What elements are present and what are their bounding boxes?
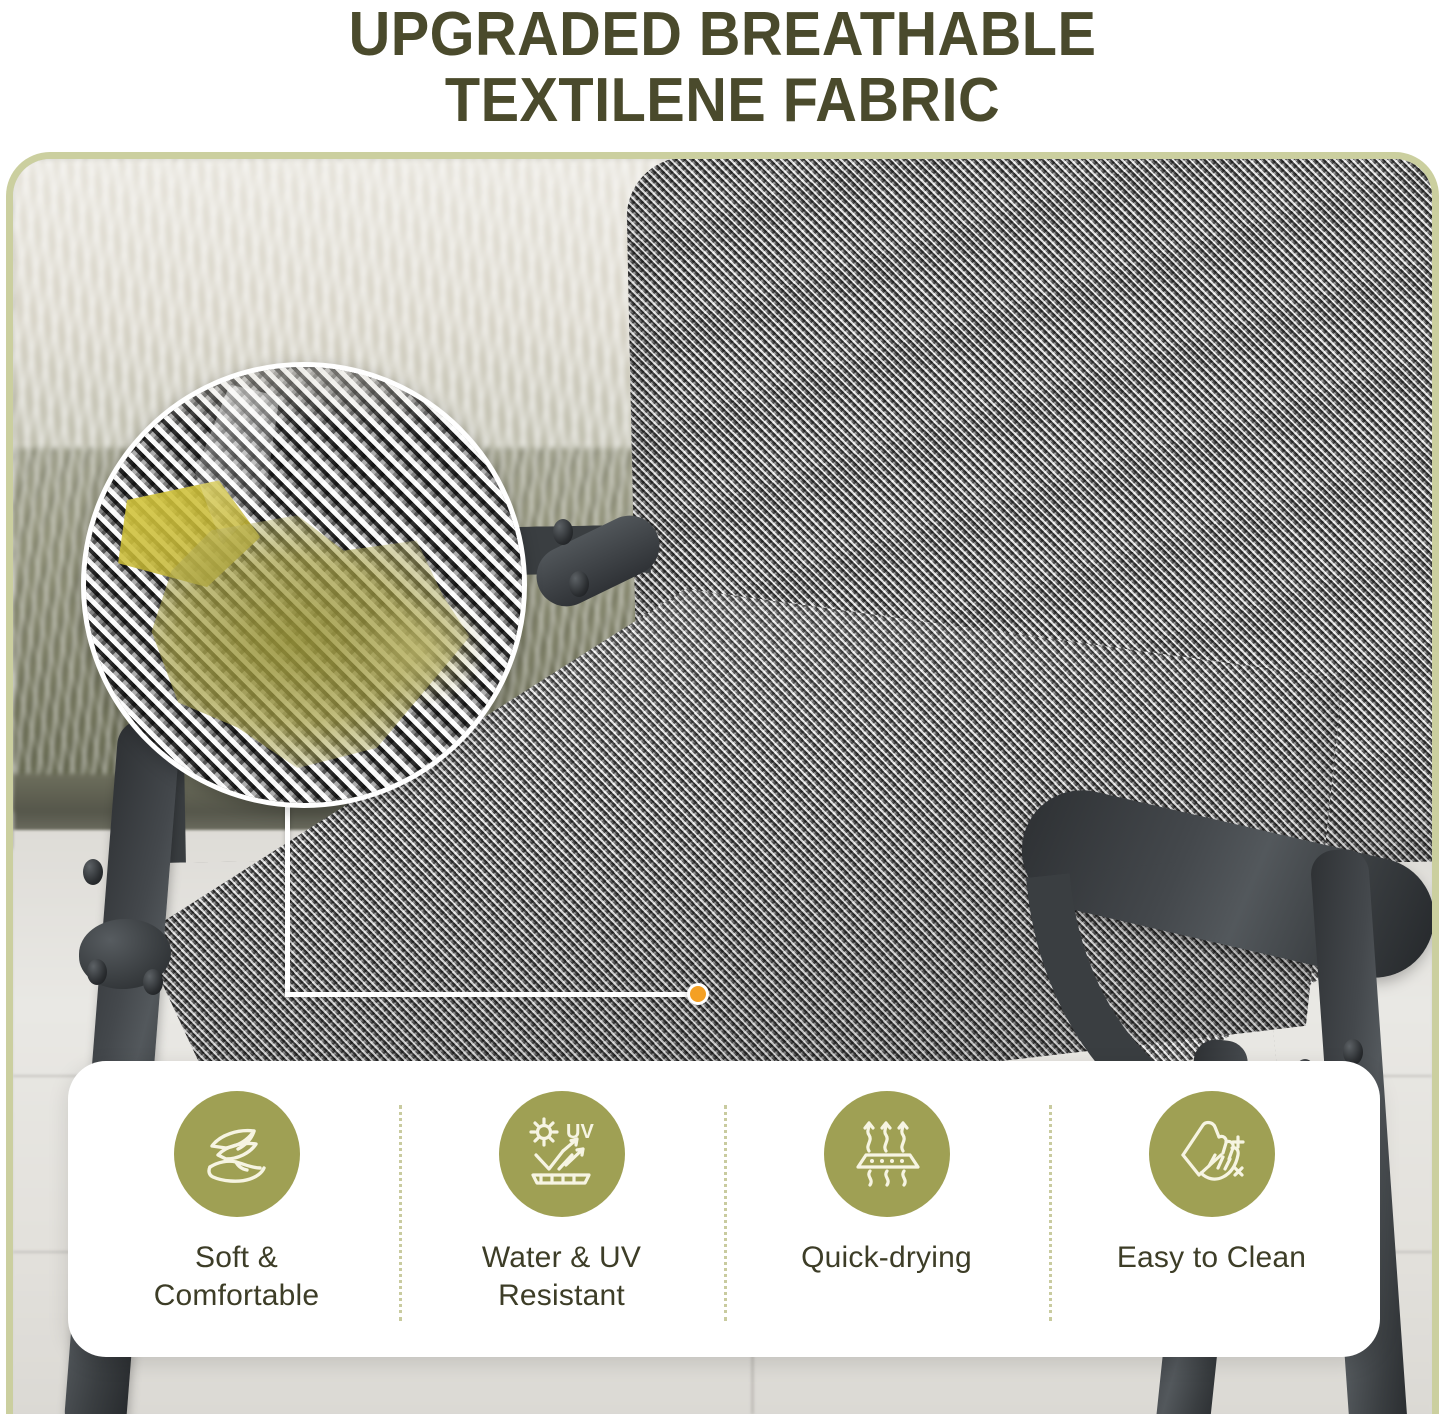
product-feature-image: UPGRADED BREATHABLE TEXTILENE FABRIC <box>0 0 1445 1414</box>
feature-label: Water & UV Resistant <box>482 1239 641 1315</box>
feature-water-uv-resistant: UV Water & UV Resistant <box>399 1091 724 1315</box>
feature-easy-to-clean: Easy to Clean <box>1049 1091 1374 1277</box>
chair-rivet <box>83 859 103 885</box>
feature-label: Soft & Comfortable <box>154 1239 320 1315</box>
chair-rivet <box>553 519 573 545</box>
chair-rivet <box>87 959 107 985</box>
callout-line-horizontal <box>285 992 705 997</box>
feature-label: Quick-drying <box>801 1239 972 1277</box>
feature-badge-card: Soft & Comfortable UV Water & UV Resista… <box>68 1061 1380 1357</box>
page-title: UPGRADED BREATHABLE TEXTILENE FABRIC <box>51 2 1395 134</box>
fabric-magnifier-circle <box>81 362 527 808</box>
hand-leaf-icon <box>174 1091 300 1217</box>
cleaning-cloth-sparkle-icon <box>1149 1091 1275 1217</box>
callout-point-marker <box>687 983 709 1005</box>
chair-rivet <box>569 571 589 597</box>
feature-quick-drying: Quick-drying <box>724 1091 1049 1277</box>
quick-drying-airflow-icon <box>824 1091 950 1217</box>
liquid-spill-droplets <box>356 594 487 707</box>
sun-uv-water-resistant-icon: UV <box>499 1091 625 1217</box>
magnified-background-strip <box>86 367 522 428</box>
feature-soft-comfortable: Soft & Comfortable <box>74 1091 399 1315</box>
feature-label: Easy to Clean <box>1117 1239 1306 1277</box>
chair-rivet <box>143 969 163 995</box>
